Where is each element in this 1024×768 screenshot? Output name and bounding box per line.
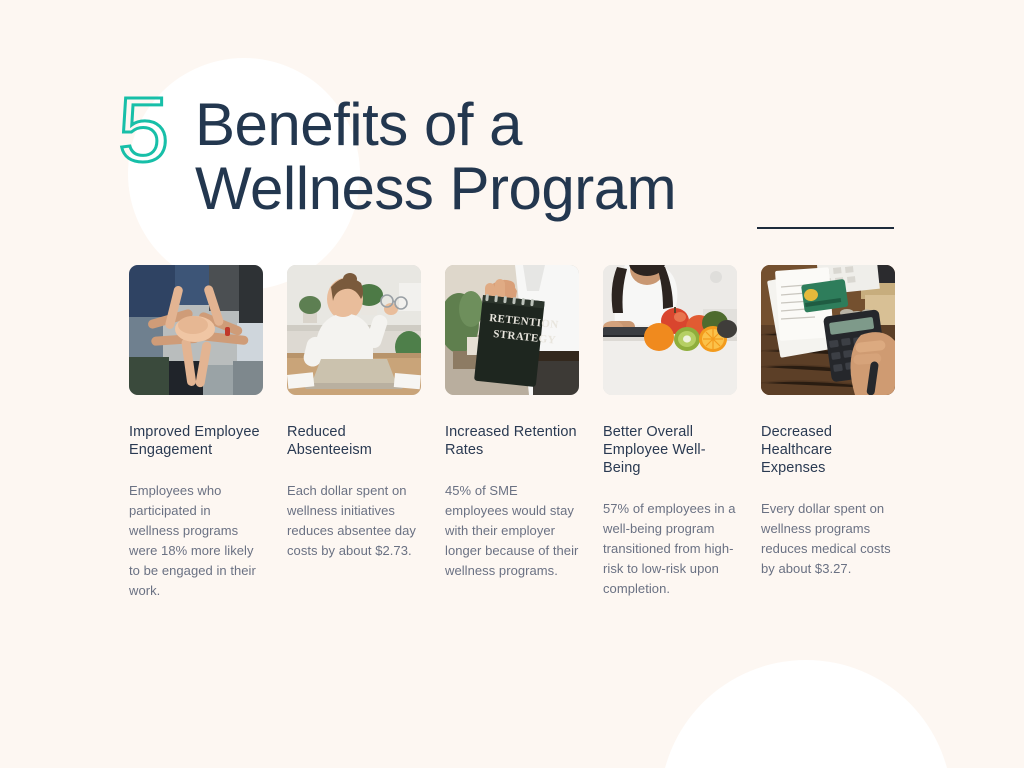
benefit-card: RETENTION STRATEGY Increased Retention R… <box>445 265 579 601</box>
benefit-card: Improved Employee Engagement Employees w… <box>129 265 263 601</box>
benefit-card: Decreased Healthcare Expenses Every doll… <box>761 265 895 601</box>
benefit-card-body: 45% of SME employees would stay with the… <box>445 481 579 581</box>
retention-strategy-notebook-photo: RETENTION STRATEGY <box>445 265 579 395</box>
retention-strategy-notebook-illustration: RETENTION STRATEGY <box>445 265 579 395</box>
benefit-card-heading: Increased Retention Rates <box>445 423 579 459</box>
page-title-line-1: Benefits of a <box>195 98 955 152</box>
calculator-and-paperwork-illustration <box>761 265 895 395</box>
benefit-card-heading: Improved Employee Engagement <box>129 423 263 459</box>
benefit-card-list: Improved Employee Engagement Employees w… <box>129 265 894 601</box>
page-title: Benefits of a Wellness Program <box>195 98 955 216</box>
count-numeral: 5 <box>118 84 168 176</box>
team-hands-together-illustration <box>129 265 263 395</box>
benefit-card-heading: Better Overall Employee Well-Being <box>603 423 737 477</box>
benefit-card-body: Employees who participated in wellness p… <box>129 481 263 601</box>
benefit-card-body: 57% of employees in a well-being program… <box>603 499 737 599</box>
woman-with-fruit-at-desk-illustration <box>603 265 737 395</box>
tired-woman-at-laptop-illustration <box>287 265 421 395</box>
woman-with-fruit-at-desk-photo <box>603 265 737 395</box>
title-underline-rule <box>757 227 894 229</box>
tired-woman-at-laptop-photo <box>287 265 421 395</box>
benefit-card: Reduced Absenteeism Each dollar spent on… <box>287 265 421 601</box>
benefit-card-heading: Reduced Absenteeism <box>287 423 421 459</box>
header: 5 Benefits of a Wellness Program <box>0 0 1024 250</box>
laptop-shape <box>305 359 403 389</box>
benefit-card-body: Every dollar spent on wellness programs … <box>761 499 895 579</box>
calculator-and-paperwork-photo <box>761 265 895 395</box>
footer-circle-shape <box>660 660 952 768</box>
page-title-line-2: Wellness Program <box>195 162 955 216</box>
team-hands-together-photo <box>129 265 263 395</box>
benefit-card-heading: Decreased Healthcare Expenses <box>761 423 895 477</box>
benefit-card: Better Overall Employee Well-Being 57% o… <box>603 265 737 601</box>
benefit-card-body: Each dollar spent on wellness initiative… <box>287 481 421 561</box>
